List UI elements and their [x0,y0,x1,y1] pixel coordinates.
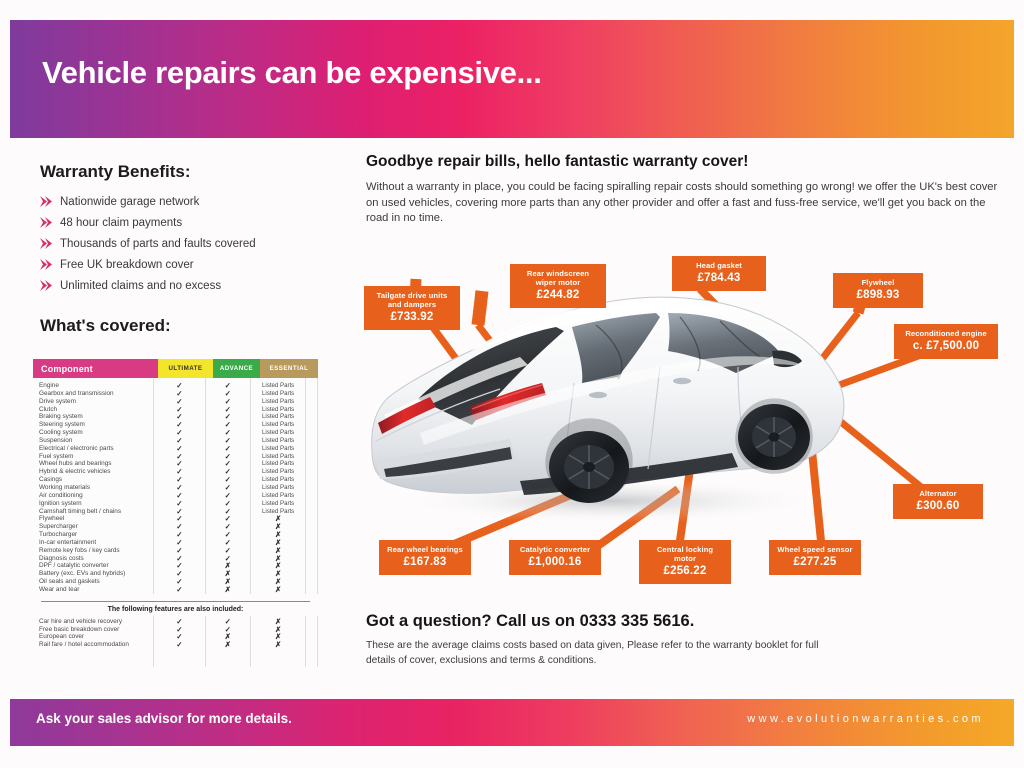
benefit-label: Free UK breakdown cover [60,259,194,271]
callout-price: £733.92 [372,310,452,324]
callout-alternator[interactable]: Alternator £300.60 [893,484,983,519]
also-advance-column: ✓✓✗✗ [206,616,251,667]
coverage-table-right-edge [306,378,318,594]
arrow-right-icon [40,280,60,291]
benefit-label: 48 hour claim payments [60,217,182,229]
callout-price: £167.83 [387,555,463,569]
callout-label: Reconditioned engine [902,329,990,338]
callout-flywheel[interactable]: Flywheel £898.93 [833,273,923,308]
coverage-row-label: Working materials [39,484,153,492]
coverage-row-label: Camshaft timing belt / chains [39,508,153,516]
cta-heading: Got a question? Call us on 0333 335 5616… [366,612,694,631]
callout-label: Rear windscreen wiper motor [518,269,598,287]
callout-tailgate-drive-units[interactable]: Tailgate drive units and dampers £733.92 [364,286,460,330]
coverage-row-label: Steering system [39,421,153,429]
col-header-advance: ADVANCE [213,359,260,378]
callout-label: Flywheel [841,278,915,287]
benefit-item: Unlimited claims and no excess [40,275,340,296]
right-column-heading: Goodbye repair bills, hello fantastic wa… [366,153,748,171]
listed-parts-label: Listed Parts [251,429,306,437]
coverage-row-label: Remote key fobs / key cards [39,547,153,555]
callout-head-gasket[interactable]: Head gasket £784.43 [672,256,766,291]
also-included-heading: The following features are also included… [33,602,318,616]
callout-price: £244.82 [518,288,598,302]
coverage-row-label: Supercharger [39,523,153,531]
callout-rear-windscreen-wiper-motor[interactable]: Rear windscreen wiper motor £244.82 [510,264,606,308]
coverage-row-label: Rail fare / hotel accommodation [39,641,153,649]
coverage-row-label: Turbocharger [39,531,153,539]
coverage-row-label: Braking system [39,413,153,421]
whats-covered-heading: What's covered: [40,316,171,336]
coverage-row-label: DPF / catalytic converter [39,562,153,570]
callout-reconditioned-engine[interactable]: Reconditioned engine c. £7,500.00 [894,324,998,359]
coverage-row-label: Wear and tear [39,586,153,594]
coverage-row-label: In-car entertainment [39,539,153,547]
col-header-ultimate: ULTIMATE [158,359,213,378]
listed-parts-label: Listed Parts [251,390,306,398]
benefit-label: Unlimited claims and no excess [60,280,221,292]
listed-parts-label: Listed Parts [251,406,306,414]
callout-label: Tailgate drive units and dampers [372,291,452,309]
callout-label: Alternator [901,489,975,498]
coverage-table-body: EngineGearbox and transmissionDrive syst… [33,378,318,594]
coverage-row-label: Ignition system [39,500,153,508]
coverage-row-label: European cover [39,633,153,641]
also-included-body: Car hire and vehicle recoveryFree basic … [33,616,318,667]
benefit-item: Thousands of parts and faults covered [40,233,340,254]
listed-parts-label: Listed Parts [251,437,306,445]
listed-parts-label: Listed Parts [251,500,306,508]
callout-label: Catalytic converter [517,545,593,554]
listed-parts-label: Listed Parts [251,460,306,468]
listed-parts-label: Listed Parts [251,382,306,390]
listed-parts-label: Listed Parts [251,413,306,421]
poster-canvas: Vehicle repairs can be expensive... Warr… [0,0,1024,768]
listed-parts-label: Listed Parts [251,492,306,500]
warranty-benefits-heading: Warranty Benefits: [40,162,191,182]
door-handle-front [673,378,691,384]
coverage-row-label: Electrical / electronic parts [39,445,153,453]
right-column-paragraph: Without a warranty in place, you could b… [366,180,998,227]
callout-price: c. £7,500.00 [902,339,990,353]
coverage-table: Component ULTIMATE ADVANCE ESSENTIAL Eng… [33,359,318,667]
callout-catalytic-converter[interactable]: Catalytic converter £1,000.16 [509,540,601,575]
callout-label: Central locking motor [647,545,723,563]
coverage-component-column: EngineGearbox and transmissionDrive syst… [33,378,153,594]
tick-icon: ✓ [154,586,205,594]
cross-icon: ✗ [251,586,306,594]
coverage-row-label: Casings [39,476,153,484]
footer-website[interactable]: www.evolutionwarranties.com [747,713,984,725]
coverage-advance-column: ✓✓✓✓✓✓✓✓✓✓✓✓✓✓✓✓✓✓✓✓✓✓✓✗✗✗✗ [206,378,251,594]
listed-parts-label: Listed Parts [251,421,306,429]
col-header-essential: ESSENTIAL [260,359,318,378]
coverage-essential-column: Listed PartsListed PartsListed PartsList… [251,378,307,594]
callout-label: Wheel speed sensor [777,545,853,554]
arrow-right-icon [40,259,60,270]
coverage-row-label: Suspension [39,437,153,445]
warranty-benefits-list: Nationwide garage network48 hour claim p… [40,191,340,296]
callout-central-locking-motor[interactable]: Central locking motor £256.22 [639,540,731,584]
callout-label: Rear wheel bearings [387,545,463,554]
coverage-row-label: Fuel system [39,453,153,461]
cross-icon: ✗ [206,641,250,649]
coverage-ultimate-column: ✓✓✓✓✓✓✓✓✓✓✓✓✓✓✓✓✓✓✓✓✓✓✓✓✓✓✓ [153,378,206,594]
callout-price: £256.22 [647,564,723,578]
listed-parts-label: Listed Parts [251,468,306,476]
coverage-row-label: Cooling system [39,429,153,437]
benefit-label: Thousands of parts and faults covered [60,238,256,250]
arrow-right-icon [40,196,60,207]
coverage-row-label: Wheel hubs and bearings [39,460,153,468]
coverage-row-label: Free basic breakdown cover [39,626,153,634]
callout-label: Head gasket [680,261,758,270]
callout-rear-wheel-bearings[interactable]: Rear wheel bearings £167.83 [379,540,471,575]
listed-parts-label: Listed Parts [251,445,306,453]
callout-wheel-speed-sensor[interactable]: Wheel speed sensor £277.25 [769,540,861,575]
col-header-component: Component [33,359,158,378]
coverage-row-label: Flywheel [39,515,153,523]
coverage-row-label: Clutch [39,406,153,414]
coverage-row-label: Gearbox and transmission [39,390,153,398]
arrow-right-icon [40,238,60,249]
also-ultimate-column: ✓✓✓✓ [153,616,206,667]
listed-parts-label: Listed Parts [251,398,306,406]
coverage-row-label: Hybrid & electric vehicles [39,468,153,476]
coverage-row-label: Air conditioning [39,492,153,500]
callout-price: £1,000.16 [517,555,593,569]
coverage-row-label: Battery (exc. EVs and hybrids) [39,570,153,578]
page-title: Vehicle repairs can be expensive... [42,55,542,91]
coverage-row-label: Diagnosis costs [39,555,153,563]
also-essential-column: ✗✗✗✗ [251,616,307,667]
cta-disclaimer: These are the average claims costs based… [366,639,836,668]
tick-icon: ✓ [154,641,205,649]
coverage-table-header-row: Component ULTIMATE ADVANCE ESSENTIAL [33,359,318,378]
benefit-item: Nationwide garage network [40,191,340,212]
listed-parts-label: Listed Parts [251,484,306,492]
also-component-column: Car hire and vehicle recoveryFree basic … [33,616,153,667]
coverage-row-label: Drive system [39,398,153,406]
also-table-right-edge [306,616,318,667]
callout-price: £898.93 [841,288,915,302]
arrow-right-icon [40,217,60,228]
listed-parts-label: Listed Parts [251,476,306,484]
benefit-label: Nationwide garage network [60,196,199,208]
coverage-row-label: Engine [39,382,153,390]
coverage-row-label: Car hire and vehicle recovery [39,618,153,626]
cross-icon: ✗ [206,586,250,594]
callout-price: £300.60 [901,499,975,513]
cross-icon: ✗ [251,641,306,649]
footer-message: Ask your sales advisor for more details. [36,711,292,726]
callout-price: £784.43 [680,271,758,285]
coverage-row-label: Oil seals and gaskets [39,578,153,586]
benefit-item: Free UK breakdown cover [40,254,340,275]
benefit-item: 48 hour claim payments [40,212,340,233]
callout-price: £277.25 [777,555,853,569]
listed-parts-label: Listed Parts [251,453,306,461]
